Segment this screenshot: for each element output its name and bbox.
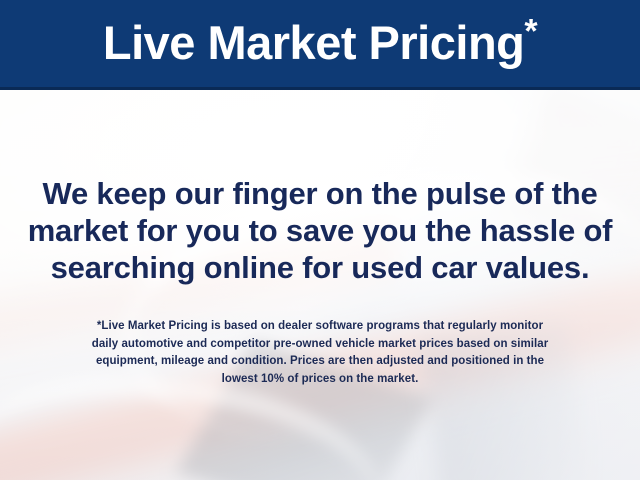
- headline-line-3: searching online for used car values.: [22, 249, 618, 286]
- disclaimer-text-block: *Live Market Pricing is based on dealer …: [25, 318, 615, 388]
- headline-text-block: We keep our finger on the pulse of the m…: [22, 175, 618, 286]
- headline-line-2: market for you to save you the hassle of: [22, 212, 618, 249]
- page-title-asterisk: *: [524, 12, 537, 50]
- disclaimer-line-4: lowest 10% of prices on the market.: [25, 371, 615, 389]
- live-market-pricing-promo-card: Live Market Pricing* We keep our finger …: [0, 0, 640, 480]
- page-title: Live Market Pricing*: [103, 19, 537, 69]
- content-area: We keep our finger on the pulse of the m…: [0, 90, 640, 480]
- disclaimer-line-1: *Live Market Pricing is based on dealer …: [25, 318, 615, 336]
- disclaimer-line-3: equipment, mileage and condition. Prices…: [25, 353, 615, 371]
- header-banner: Live Market Pricing*: [0, 0, 640, 90]
- page-title-text: Live Market Pricing: [103, 16, 525, 69]
- disclaimer-line-2: daily automotive and competitor pre-owne…: [25, 336, 615, 354]
- headline-line-1: We keep our finger on the pulse of the: [22, 175, 618, 212]
